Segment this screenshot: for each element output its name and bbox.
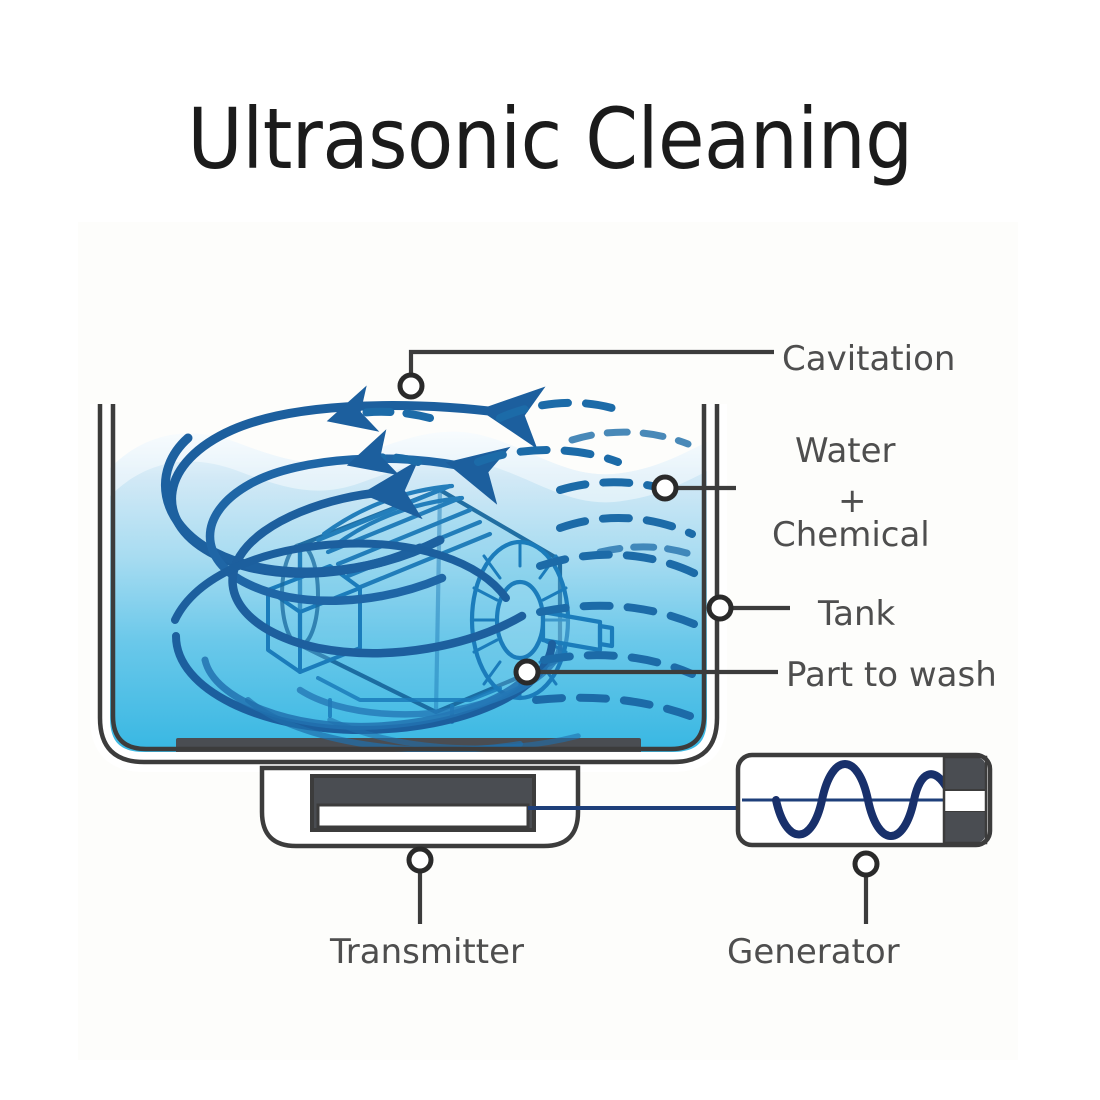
label-transmitter: Transmitter	[329, 932, 524, 972]
label-water: Water	[795, 431, 896, 471]
generator-terminal-block	[944, 757, 986, 843]
label-chemical: Chemical	[772, 515, 930, 555]
generator-unit	[738, 755, 990, 845]
label-cavitation: Cavitation	[782, 339, 955, 379]
label-part-to-wash: Part to wash	[786, 655, 997, 695]
leader-cavitation	[411, 352, 774, 374]
ultrasonic-cleaning-schematic: Cavitation Water + Chemical Tank Part to…	[0, 0, 1100, 1100]
transducer-inner-slot	[318, 805, 528, 827]
label-tank: Tank	[817, 594, 896, 634]
diagram-canvas: Ultrasonic Cleaning	[0, 0, 1100, 1100]
label-generator: Generator	[727, 932, 900, 972]
